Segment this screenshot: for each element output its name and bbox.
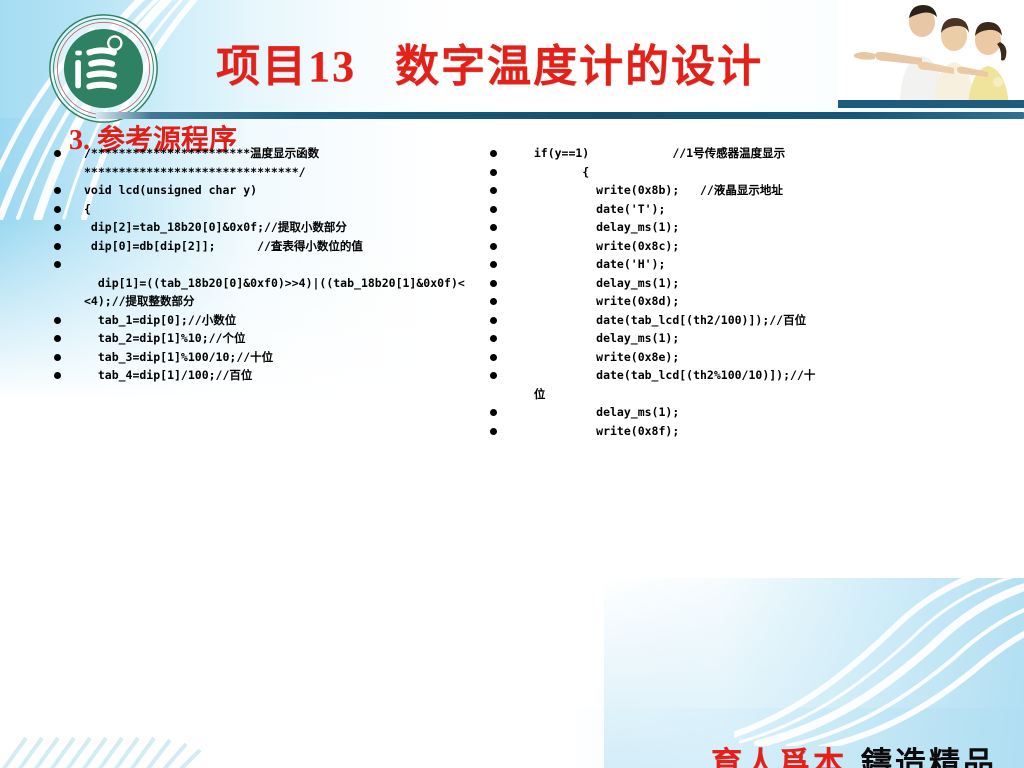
code-line: *******************************/ — [46, 163, 466, 182]
code-line: 位 — [482, 385, 912, 404]
code-line: tab_1=dip[0];//小数位 — [46, 311, 466, 330]
code-line: /***********************温度显示函数 — [46, 144, 466, 163]
code-line: { — [46, 200, 466, 219]
code-line: dip[1]=((tab_18b20[0]&0xf0)>>4)|((tab_18… — [46, 274, 466, 311]
code-line: write(0x8b); //液晶显示地址 — [482, 181, 912, 200]
code-line-text: dip[1]=((tab_18b20[0]&0xf0)>>4)|((tab_18… — [84, 274, 466, 311]
code-line: dip[0]=db[dip[2]]; //查表得小数位的值 — [46, 237, 466, 256]
code-column-right: if(y==1) //1号传感器温度显示 { write(0x8b); //液晶… — [482, 144, 912, 440]
code-line: delay_ms(1); — [482, 329, 912, 348]
tagline-black-text: 鑄造精品 — [861, 746, 997, 768]
three-students-photo — [838, 0, 1024, 108]
code-line: void lcd(unsigned char y) — [46, 181, 466, 200]
code-line: delay_ms(1); — [482, 218, 912, 237]
code-line: date('H'); — [482, 255, 912, 274]
code-line: if(y==1) //1号传感器温度显示 — [482, 144, 912, 163]
code-line: date('T'); — [482, 200, 912, 219]
slide-canvas: 项目13 数字温度计的设计 3. 参考源程序 /****************… — [0, 0, 1024, 768]
code-line: { — [482, 163, 912, 182]
code-line: write(0x8e); — [482, 348, 912, 367]
code-line: date(tab_lcd[(th2/100)]);//百位 — [482, 311, 912, 330]
code-line: delay_ms(1); — [482, 403, 912, 422]
code-line: tab_4=dip[1]/100;//百位 — [46, 366, 466, 385]
code-line: date(tab_lcd[(th2%100/10)]);//十 — [482, 366, 912, 385]
code-column-left: /***********************温度显示函数**********… — [46, 144, 466, 385]
tagline-red-text: 育人爲本 — [711, 746, 847, 768]
code-line: write(0x8c); — [482, 237, 912, 256]
school-seal-logo-icon — [47, 12, 160, 125]
code-line: tab_2=dip[1]%10;//个位 — [46, 329, 466, 348]
code-line: write(0x8f); — [482, 422, 912, 441]
page-title: 项目13 数字温度计的设计 — [216, 30, 846, 94]
code-line: delay_ms(1); — [482, 274, 912, 293]
code-line: tab_3=dip[1]%100/10;//十位 — [46, 348, 466, 367]
code-line: dip[2]=tab_18b20[0]&0x0f;//提取小数部分 — [46, 218, 466, 237]
code-line — [46, 255, 466, 274]
footer-tagline: 育人爲本鑄造精品 — [668, 702, 997, 768]
code-line: write(0x8d); — [482, 292, 912, 311]
